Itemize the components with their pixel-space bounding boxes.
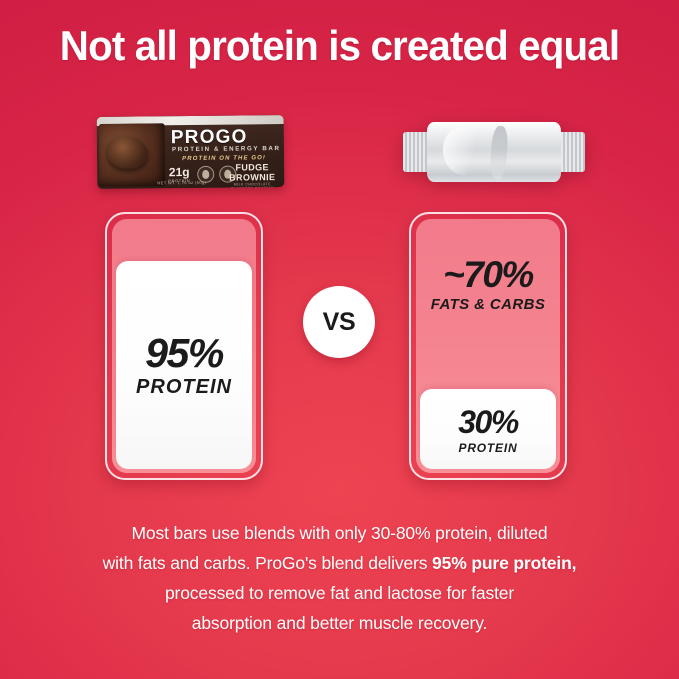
generic-protein-value: 30% (458, 404, 518, 440)
progo-protein-fill: 95% PROTEIN (116, 261, 252, 469)
progo-tagline: PROTEIN ON THE GO! (170, 155, 278, 162)
vs-badge: VS (303, 286, 375, 358)
brownie-photo (99, 123, 166, 187)
wrapper-crimp-right (557, 132, 585, 172)
footer-line-1: Most bars use blends with only 30-80% pr… (131, 523, 547, 543)
footer-line-3: processed to remove fat and lactose for … (165, 583, 514, 603)
footer-description: Most bars use blends with only 30-80% pr… (64, 518, 615, 638)
progo-flavor: FUDGE BROWNIE (226, 162, 278, 183)
page-title: Not all protein is created equal (14, 20, 666, 72)
progo-comparison-card: 95% PROTEIN (105, 212, 263, 480)
footer-line-4: absorption and better muscle recovery. (192, 613, 488, 633)
progo-subtitle: PROTEIN & ENERGY BAR (172, 145, 281, 153)
generic-fats-carbs-value: ~70% (416, 255, 560, 295)
generic-protein-fill: 30% PROTEIN (420, 389, 556, 469)
progo-net-weight: NET WT. 1.76 oz (50g) (157, 180, 206, 186)
generic-bar-image (403, 118, 585, 186)
product-images-row: PROGO PROTEIN & ENERGY BAR PROTEIN ON TH… (0, 108, 679, 200)
progo-protein-grams: 21g (165, 166, 193, 178)
protein-comparison-poster: Not all protein is created equal PROGO P… (0, 0, 679, 679)
progo-flavor-sub: MILK CHOCOLATE FLAVORED COATING (226, 182, 278, 189)
progo-card-inner: 95% PROTEIN (112, 219, 256, 473)
footer-line-2a: with fats and carbs. ProGo's blend deliv… (103, 553, 432, 573)
progo-card-label: PROTEIN (136, 376, 232, 399)
wrapper-body (427, 122, 561, 182)
footer-line-2-bold: 95% pure protein, (432, 553, 576, 573)
generic-card-inner: ~70% FATS & CARBS 30% PROTEIN (416, 219, 560, 473)
progo-card-value: 95% (145, 331, 223, 375)
generic-fats-carbs-label: FATS & CARBS (416, 296, 560, 313)
progo-product-image: PROGO PROTEIN & ENERGY BAR PROTEIN ON TH… (97, 115, 285, 189)
generic-protein-label: PROTEIN (459, 441, 518, 455)
generic-fats-carbs-group: ~70% FATS & CARBS (416, 255, 560, 313)
generic-comparison-card: ~70% FATS & CARBS 30% PROTEIN (409, 212, 567, 480)
